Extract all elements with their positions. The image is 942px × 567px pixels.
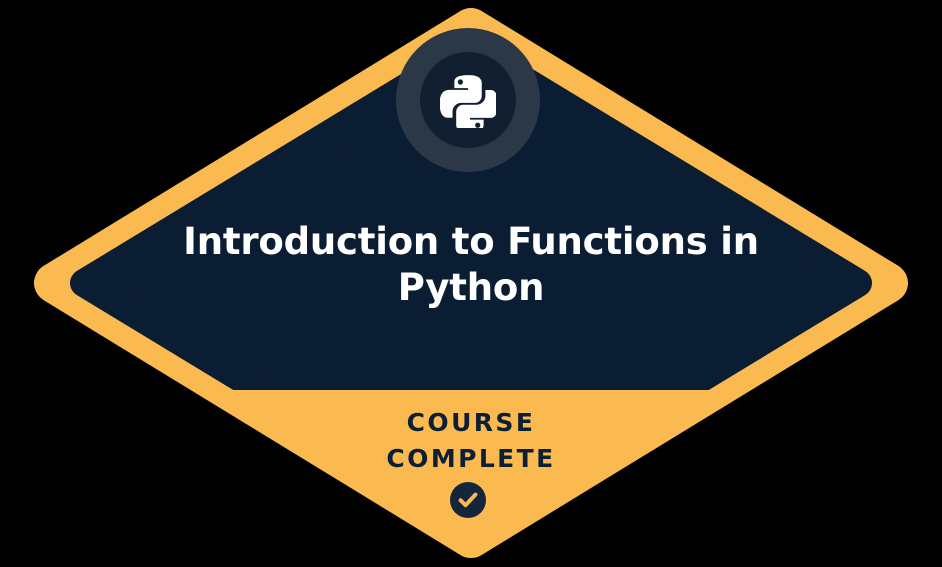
completion-status-line-1: COURSE — [171, 405, 771, 441]
check-circle-icon — [450, 482, 486, 518]
completion-status: COURSE COMPLETE — [171, 405, 771, 477]
course-title: Introduction to Functions in Python — [171, 219, 771, 311]
course-completion-badge: Introduction to Functions in Python COUR… — [0, 0, 942, 567]
completion-status-line-2: COMPLETE — [171, 441, 771, 477]
python-logo-icon — [440, 72, 496, 128]
